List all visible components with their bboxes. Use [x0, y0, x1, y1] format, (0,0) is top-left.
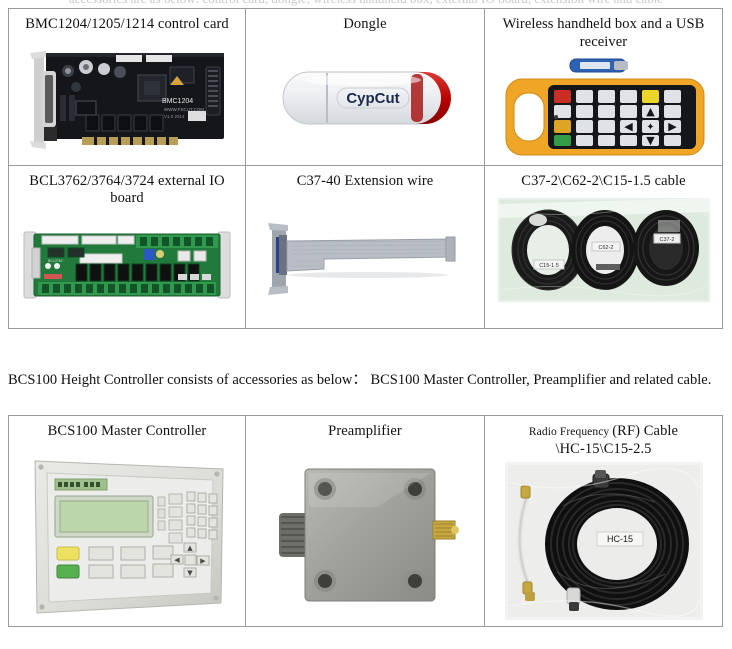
cable-bag-image: C15-1.5 [485, 193, 722, 306]
cell-title: BMC1204/1205/1214 control card [9, 9, 245, 37]
svg-text:▲: ▲ [646, 105, 655, 118]
document-page: accessories are as below: control card, … [0, 0, 732, 649]
svg-text:✦: ✦ [646, 122, 654, 133]
svg-text:BMC1204: BMC1204 [162, 98, 193, 105]
svg-text:▼: ▼ [646, 134, 655, 147]
handheld-box-image: ▲ ◀ ▶ ▼ ✦ [485, 54, 722, 159]
cutting-accessories-table: BMC1204/1205/1214 control card [8, 8, 723, 329]
cell-title: BCL3762/3764/3724 external IO board [9, 166, 245, 211]
extension-wire-image [246, 193, 484, 328]
cell-rf-cable: Radio Frequency (RF) Cable \HC-15\C15-2.… [485, 416, 723, 627]
cell-title: Radio Frequency (RF) Cable \HC-15\C15-2.… [485, 416, 722, 461]
rf-cable-image: HC-15 [485, 461, 722, 621]
dongle-art: CypCut [265, 46, 465, 156]
dongle-brand-label: CypCut [346, 90, 399, 107]
svg-text:▶: ▶ [668, 120, 677, 133]
rf-cable-title-small: Radio Frequency [529, 426, 612, 438]
cell-dongle: Dongle [246, 9, 485, 166]
control-card-image: BMC1204 WWW.FSCUT.COM V1.0 2014 [9, 37, 245, 165]
io-board-art: BCL3762 [18, 218, 236, 314]
rf-cable-title-main: (RF) Cable [612, 423, 678, 439]
clipped-top-text: accessories are as below: control card, … [0, 0, 732, 8]
cell-title: C37-2\C62-2\C15-1.5 cable [485, 166, 722, 194]
svg-text:V1.0 2014: V1.0 2014 [164, 114, 185, 119]
control-card-art: BMC1204 WWW.FSCUT.COM V1.0 2014 [20, 45, 235, 157]
svg-text:▲: ▲ [187, 544, 193, 552]
dongle-image: CypCut [246, 37, 484, 165]
cell-cable-bag: C37-2\C62-2\C15-1.5 cable [485, 165, 723, 329]
rf-cable-art: HC-15 [505, 462, 703, 620]
cell-title: Preamplifier [246, 416, 484, 444]
table-row: BCS100 Master Controller [9, 416, 723, 627]
svg-text:◀: ◀ [624, 120, 633, 133]
table-row: BMC1204/1205/1214 control card [9, 9, 723, 166]
height-accessories-table: BCS100 Master Controller [8, 415, 723, 627]
cell-title: Dongle [246, 9, 484, 37]
rf-cable-tag: HC-15 [606, 534, 632, 544]
cell-handheld-box: Wireless handheld box and a USB receiver [485, 9, 723, 166]
handheld-box-art: ▲ ◀ ▶ ▼ ✦ [496, 57, 711, 157]
cell-io-board: BCL3762/3764/3724 external IO board [9, 165, 246, 329]
cell-title: Wireless handheld box and a USB receiver [485, 9, 722, 54]
master-controller-art: ▲ ◀ ▶ ▼ [19, 447, 235, 623]
cell-master-controller: BCS100 Master Controller [9, 416, 246, 627]
master-controller-image: ▲ ◀ ▶ ▼ [9, 444, 245, 626]
cell-preamplifier: Preamplifier [246, 416, 485, 627]
svg-text:◀: ◀ [174, 556, 180, 564]
rf-cable-title-line2: \HC-15\C15-2.5 [555, 441, 651, 457]
cable-bag-art: C15-1.5 [498, 198, 710, 302]
preamplifier-image [246, 444, 484, 626]
cell-title: C37-40 Extension wire [246, 166, 484, 194]
io-board-image: BCL3762 [9, 211, 245, 321]
table-row: BCL3762/3764/3724 external IO board [9, 165, 723, 329]
height-controller-paragraph: BCS100 Height Controller consists of acc… [8, 370, 724, 392]
cable-tag-1: C15-1.5 [539, 263, 559, 269]
svg-text:BCL3762: BCL3762 [48, 259, 63, 263]
cell-extension-wire: C37-40 Extension wire [246, 165, 485, 329]
extension-wire-art [258, 213, 473, 309]
svg-text:▶: ▶ [200, 557, 206, 565]
preamplifier-art [257, 447, 473, 623]
cell-control-card: BMC1204/1205/1214 control card [9, 9, 246, 166]
cable-tag-3: C37-2 [659, 237, 674, 243]
cell-title: BCS100 Master Controller [9, 416, 245, 444]
svg-text:▼: ▼ [187, 569, 193, 577]
cable-tag-2: C62-2 [598, 245, 613, 251]
